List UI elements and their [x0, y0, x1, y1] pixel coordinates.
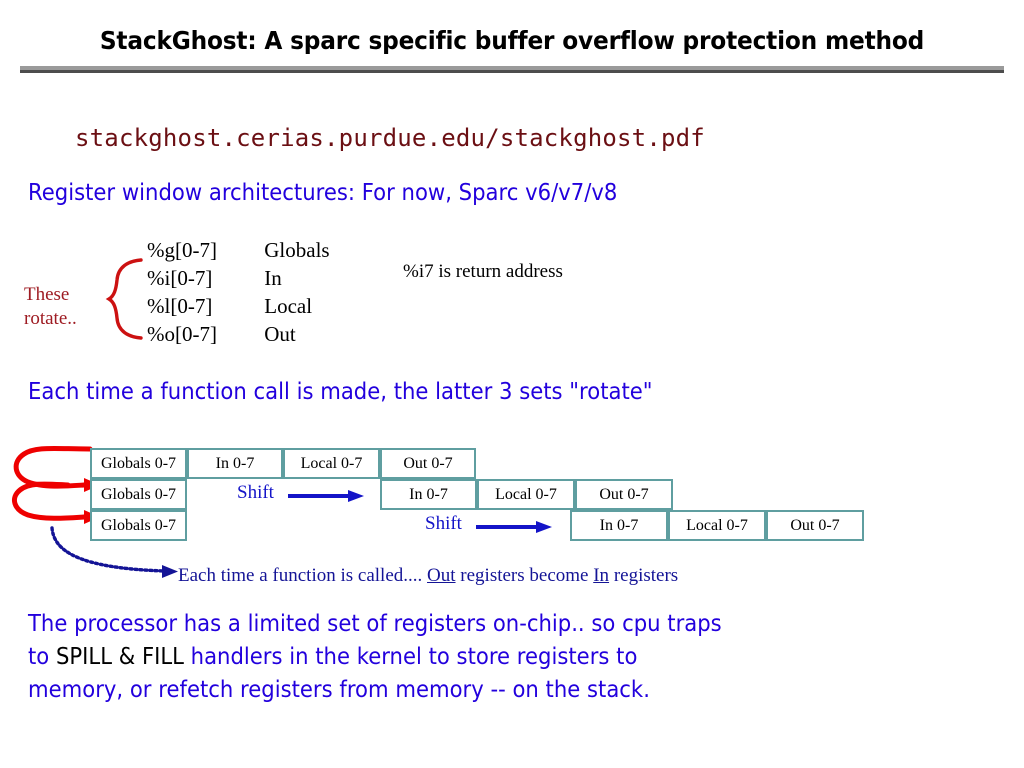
window-row-1: Globals 0-7 In 0-7 Local 0-7 Out 0-7	[0, 448, 1024, 479]
heading-rotate: Each time a function call is made, the l…	[28, 379, 653, 405]
paragraph-line2-suffix: handlers in the kernel to store register…	[184, 644, 637, 670]
slide-canvas: StackGhost: A sparc specific buffer over…	[0, 0, 1024, 768]
register-desc: Out	[264, 320, 296, 348]
table-cell: In 0-7	[187, 448, 283, 479]
table-cell: Local 0-7	[283, 448, 380, 479]
register-name: %g[0-7]	[147, 236, 259, 264]
window-row-2: Globals 0-7 In 0-7 Local 0-7 Out 0-7	[0, 479, 1024, 510]
table-cell: Globals 0-7	[90, 448, 187, 479]
brace-icon	[108, 258, 142, 340]
ampersand-separator: &	[112, 644, 142, 670]
bottom-paragraph: The processor has a limited set of regis…	[28, 608, 988, 707]
these-rotate-line2: rotate..	[24, 307, 77, 331]
shift-arrow-1-icon	[288, 489, 366, 503]
caption-prefix: Each time a function is called....	[178, 565, 427, 586]
paper-url: stackghost.cerias.purdue.edu/stackghost.…	[75, 124, 705, 152]
register-name: %l[0-7]	[147, 292, 259, 320]
paragraph-line-2: to SPILL & FILL handlers in the kernel t…	[28, 641, 911, 674]
spill-keyword: SPILL	[56, 644, 112, 670]
rotating-brace	[108, 258, 142, 340]
caption-mid: registers become	[456, 565, 594, 586]
list-item: %l[0-7] Local	[147, 292, 330, 320]
table-cell: Local 0-7	[668, 510, 766, 541]
paragraph-line-1: The processor has a limited set of regis…	[28, 608, 911, 641]
table-cell: Local 0-7	[477, 479, 575, 510]
table-cell: Out 0-7	[380, 448, 476, 479]
register-name: %o[0-7]	[147, 320, 259, 348]
shift-label-2: Shift	[425, 513, 462, 535]
list-item: %o[0-7] Out	[147, 320, 330, 348]
table-cell: In 0-7	[380, 479, 477, 510]
paragraph-line-3: memory, or refetch registers from memory…	[28, 674, 911, 707]
shift-label-1: Shift	[237, 482, 274, 504]
list-item: %g[0-7] Globals	[147, 236, 330, 264]
dotted-callout-arrow-icon	[46, 526, 186, 578]
table-cell: In 0-7	[570, 510, 668, 541]
register-desc: Local	[264, 292, 312, 320]
register-list: %g[0-7] Globals %i[0-7] In %l[0-7] Local…	[147, 236, 330, 348]
table-cell: Out 0-7	[575, 479, 673, 510]
table-cell: Out 0-7	[766, 510, 864, 541]
caption-out: Out	[427, 565, 456, 586]
shift-arrow-2-icon	[476, 520, 554, 534]
heading-register-windows: Register window architectures: For now, …	[28, 180, 617, 206]
caption-suffix: registers	[609, 565, 678, 586]
register-desc: In	[264, 264, 282, 292]
title-divider	[20, 66, 1004, 73]
register-name: %i[0-7]	[147, 264, 259, 292]
list-item: %i[0-7] In	[147, 264, 330, 292]
these-rotate-label: These rotate..	[24, 283, 77, 331]
register-desc: Globals	[264, 236, 329, 264]
these-rotate-line1: These	[24, 283, 77, 307]
caption-in: In	[593, 565, 609, 586]
page-title: StackGhost: A sparc specific buffer over…	[36, 26, 988, 55]
diagram-caption: Each time a function is called.... Out r…	[178, 565, 678, 587]
fill-keyword: FILL	[142, 644, 184, 670]
table-cell: Globals 0-7	[90, 479, 187, 510]
paragraph-line2-prefix: to	[28, 644, 56, 670]
return-address-note: %i7 is return address	[403, 261, 563, 283]
